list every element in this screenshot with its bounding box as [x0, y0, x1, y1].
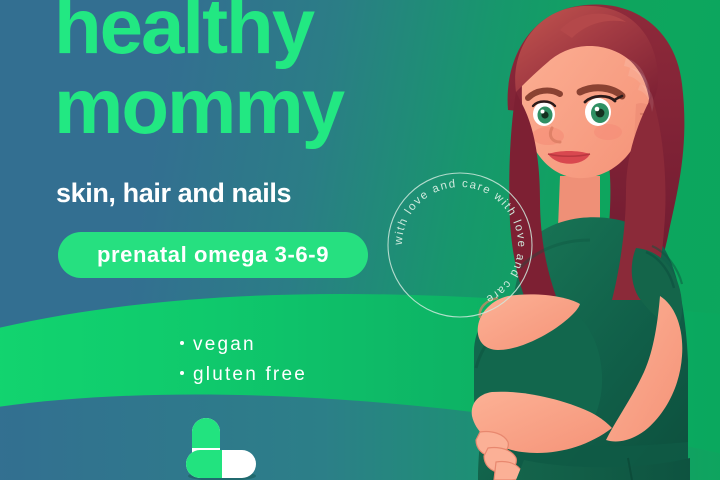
feature-list: vegan gluten free: [180, 330, 307, 390]
product-pill-label: prenatal omega 3-6-9: [97, 242, 329, 268]
feature-label: vegan: [193, 330, 256, 360]
capsule-icon-horizontal: [186, 450, 256, 478]
badge-ring-circle: [388, 173, 532, 317]
subheadline: skin, hair and nails: [56, 178, 291, 209]
headline-line-2: mommy: [54, 62, 484, 150]
poster-canvas: with love and care with love and care he…: [0, 0, 720, 480]
capsule-pills-group: [176, 418, 268, 480]
bullet-dot-icon: [180, 341, 184, 345]
bullet-dot-icon: [180, 371, 184, 375]
circular-badge-icon: with love and care with love and care: [382, 167, 538, 323]
list-item: gluten free: [180, 360, 307, 390]
feature-label: gluten free: [193, 360, 307, 390]
product-pill-badge: prenatal omega 3-6-9: [58, 232, 368, 278]
badge-text: with love and care with love and care: [393, 178, 527, 306]
headline-line-1: healthy: [54, 0, 484, 70]
headline-block: healthy mommy: [54, 0, 484, 150]
list-item: vegan: [180, 330, 307, 360]
